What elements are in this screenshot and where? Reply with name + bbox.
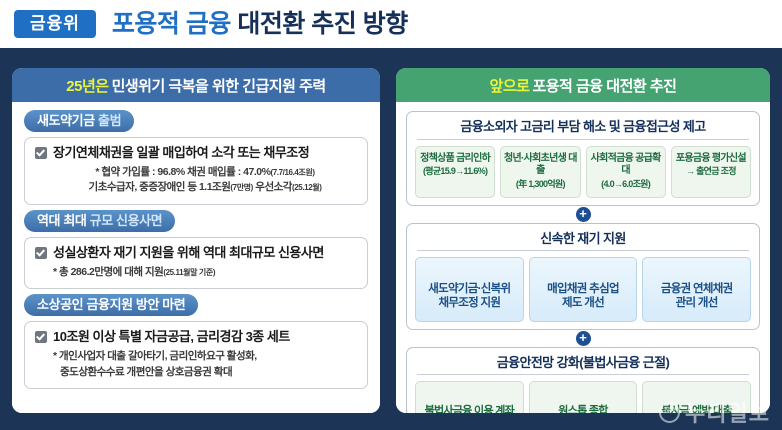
block-tag-primary: 새도약기금 xyxy=(37,113,95,128)
right-box-label: 새도약기금·신복위 채무조정 지원 xyxy=(428,283,510,309)
card-sub-line-2-tail-note: (25.12월) xyxy=(292,183,322,192)
right-box-note: (4.0→6.0조원) xyxy=(589,179,663,190)
right-box-note: (年 1,300억원) xyxy=(503,179,577,190)
card-sub-text: * 개인사업자 대출 갈아타기, 금리인하요구 활성화, 중도상환수수료 개편안… xyxy=(35,349,357,379)
divider xyxy=(417,250,749,251)
card-sub-text: * 총 286.2만명에 대해 지원(25.11월말 기준) xyxy=(35,265,357,280)
card-main-text: 장기연체채권을 일괄 매입하여 소각 또는 채무조정 xyxy=(53,145,309,161)
block-tag-primary: 소상공인 금융지원 방안 마련 xyxy=(37,297,185,312)
right-panel-header: 앞으로 포용적 금융 대전환 추진 xyxy=(396,68,770,102)
block-tag: 새도약기금 출범 xyxy=(24,110,134,132)
card-sub-line-2-note: (7만명) xyxy=(230,183,253,192)
card-main-text: 10조원 이상 특별 자금공급, 금리경감 3종 세트 xyxy=(53,329,290,345)
left-block-small-business: 소상공인 금융지원 방안 마련 10조원 이상 특별 자금공급, 금리경감 3종… xyxy=(24,294,368,389)
right-box-note: (평균15.9→11.6%) xyxy=(418,166,492,177)
card-sub-line-2-text: 기초수급자, 중증장애인 등 1.1조원 xyxy=(89,181,231,193)
right-group-title: 금융안전망 강화(불법사금융 근절) xyxy=(415,353,751,375)
right-box-note: → 출연금 조정 xyxy=(674,166,748,177)
right-box-label: 불사금 예방 대출 실질금리 인하 xyxy=(661,405,732,413)
card-sub-line-1-note: (7.7/16.4조원) xyxy=(270,168,314,177)
board-background: 25년은 민생위기 극복을 위한 긴급지원 주력 새도약기금 출범 장기연체채권… xyxy=(0,48,782,430)
card-sub-line-2-tail: 우선소각 xyxy=(253,181,292,193)
page-title: 포용적 금융 대전환 추진 방향 xyxy=(112,12,408,37)
right-box-prevention-loan: 불사금 예방 대출 실질금리 인하 xyxy=(642,381,751,413)
right-box-onestop-support: 원스톱 종합 전담 지원시스템 xyxy=(529,381,638,413)
right-box-label: 정책상품 금리인하 xyxy=(420,153,490,164)
connector-1: + xyxy=(406,206,760,223)
check-icon xyxy=(35,147,47,159)
right-panel: 앞으로 포용적 금융 대전환 추진 금융소외자 고금리 부담 해소 및 금융접근… xyxy=(396,68,770,413)
right-box-delinquent-management: 금융권 연체채권 관리 개선 xyxy=(642,257,751,321)
divider xyxy=(417,374,749,375)
left-block-credit-amnesty: 역대 최대 규모 신용사면 성실상환자 재기 지원을 위해 역대 최대규모 신용… xyxy=(24,210,368,289)
right-box-label: 불법사금융 이용 계좌 즉시 중단 xyxy=(425,405,515,413)
right-box-label: 사회적금융 공급확대 xyxy=(591,153,661,177)
card-main-row: 장기연체채권을 일괄 매입하여 소각 또는 채무조정 xyxy=(35,145,357,161)
right-box-policy-rate-cut: 정책상품 금리인하 (평균15.9→11.6%) xyxy=(415,146,495,198)
right-box-illegal-account-stop: 불법사금융 이용 계좌 즉시 중단 xyxy=(415,381,524,413)
right-box-label: 금융권 연체채권 관리 개선 xyxy=(661,283,733,309)
organization-badge: 금융위 xyxy=(14,10,96,38)
right-group-title: 금융소외자 고금리 부담 해소 및 금융접근성 제고 xyxy=(415,117,751,139)
right-group-title: 신속한 재기 지원 xyxy=(415,229,751,251)
right-group-safety-net: 금융안전망 강화(불법사금융 근절) 불법사금융 이용 계좌 즉시 중단 원스톱… xyxy=(406,347,760,413)
right-box-inclusive-finance-eval: 포용금융 평가신설 → 출연금 조정 xyxy=(671,146,751,198)
card-sub-line-1: * 협약 가입률 : 96.8% 채권 매입률 : 47.0%(7.7/16.4… xyxy=(53,165,357,180)
right-group-row: 새도약기금·신복위 채무조정 지원 매입채권 추심업 제도 개선 금융권 연체채… xyxy=(415,257,751,321)
block-tag-primary: 역대 최대 xyxy=(37,213,86,228)
right-box-collection-reform: 매입채권 추심업 제도 개선 xyxy=(529,257,638,321)
infographic-canvas: 금융위 포용적 금융 대전환 추진 방향 25년은 민생위기 극복을 위한 긴급… xyxy=(0,0,782,430)
right-panel-header-text: 포용적 금융 대전환 추진 xyxy=(532,75,676,96)
right-box-label: 원스톱 종합 전담 지원시스템 xyxy=(549,405,617,413)
card-main-row: 성실상환자 재기 지원을 위해 역대 최대규모 신용사면 xyxy=(35,245,357,261)
right-panel-body: 금융소외자 고금리 부담 해소 및 금융접근성 제고 정책상품 금리인하 (평균… xyxy=(396,102,770,413)
title-bar: 금융위 포용적 금융 대전환 추진 방향 xyxy=(0,0,782,48)
right-box-label: 매입채권 추심업 제도 개선 xyxy=(547,283,619,309)
card-main-row: 10조원 이상 특별 자금공급, 금리경감 3종 세트 xyxy=(35,329,357,345)
block-card: 성실상환자 재기 지원을 위해 역대 최대규모 신용사면 * 총 286.2만명… xyxy=(24,237,368,289)
card-sub-line-2-text: 중도상환수수료 개편안을 상호금융권 확대 xyxy=(60,366,232,378)
card-sub-line-1-note: (25.11월말 기준) xyxy=(163,268,215,277)
connector-2: + xyxy=(406,330,760,347)
plus-icon: + xyxy=(576,331,591,346)
check-icon xyxy=(35,247,47,259)
right-box-label: 포용금융 평가신설 xyxy=(676,153,746,164)
right-panel-header-highlight: 앞으로 xyxy=(490,75,530,96)
right-box-label: 청년·사회초년생 대출 xyxy=(504,153,577,177)
right-group-access: 금융소외자 고금리 부담 해소 및 금융접근성 제고 정책상품 금리인하 (평균… xyxy=(406,111,760,206)
card-sub-line-1: * 개인사업자 대출 갈아타기, 금리인하요구 활성화, xyxy=(53,349,357,364)
block-tag: 역대 최대 규모 신용사면 xyxy=(24,210,175,232)
block-card: 10조원 이상 특별 자금공급, 금리경감 3종 세트 * 개인사업자 대출 갈… xyxy=(24,321,368,389)
block-tag: 소상공인 금융지원 방안 마련 xyxy=(24,294,198,316)
right-group-row: 정책상품 금리인하 (평균15.9→11.6%) 청년·사회초년생 대출 (年 … xyxy=(415,146,751,198)
plus-icon: + xyxy=(576,207,591,222)
left-panel: 25년은 민생위기 극복을 위한 긴급지원 주력 새도약기금 출범 장기연체채권… xyxy=(12,68,380,413)
card-sub-line-2: 기초수급자, 중증장애인 등 1.1조원(7만명) 우선소각(25.12월) xyxy=(53,180,357,195)
block-card: 장기연체채권을 일괄 매입하여 소각 또는 채무조정 * 협약 가입률 : 96… xyxy=(24,137,368,205)
right-box-social-finance-supply: 사회적금융 공급확대 (4.0→6.0조원) xyxy=(586,146,666,198)
left-panel-header: 25년은 민생위기 극복을 위한 긴급지원 주력 xyxy=(12,68,380,102)
block-tag-secondary: 규모 신용사면 xyxy=(90,213,163,228)
page-title-rest: 대전환 추진 방향 xyxy=(237,10,407,38)
card-sub-line-1-text: * 협약 가입률 : 96.8% 채권 매입률 : 47.0% xyxy=(95,166,270,178)
card-main-text: 성실상환자 재기 지원을 위해 역대 최대규모 신용사면 xyxy=(53,245,324,261)
card-sub-text: * 협약 가입률 : 96.8% 채권 매입률 : 47.0%(7.7/16.4… xyxy=(35,165,357,195)
right-group-recovery: 신속한 재기 지원 새도약기금·신복위 채무조정 지원 매입채권 추심업 제도 … xyxy=(406,223,760,330)
right-box-youth-loan: 청년·사회초년생 대출 (年 1,300억원) xyxy=(500,146,580,198)
left-panel-body: 새도약기금 출범 장기연체채권을 일괄 매입하여 소각 또는 채무조정 * 협약… xyxy=(12,102,380,413)
card-sub-line-1-text: * 총 286.2만명에 대해 지원 xyxy=(53,266,163,278)
card-sub-line-2: 중도상환수수료 개편안을 상호금융권 확대 xyxy=(53,365,357,380)
right-box-debt-adjustment: 새도약기금·신복위 채무조정 지원 xyxy=(415,257,524,321)
left-block-new-leap-fund: 새도약기금 출범 장기연체채권을 일괄 매입하여 소각 또는 채무조정 * 협약… xyxy=(24,110,368,205)
left-panel-header-year: 25년은 xyxy=(66,75,108,96)
check-icon xyxy=(35,331,47,343)
left-panel-header-text: 민생위기 극복을 위한 긴급지원 주력 xyxy=(112,75,326,96)
right-group-row: 불법사금융 이용 계좌 즉시 중단 원스톱 종합 전담 지원시스템 불사금 예방… xyxy=(415,381,751,413)
divider xyxy=(417,139,749,140)
block-tag-secondary: 출범 xyxy=(98,113,121,128)
page-title-highlight: 포용적 금융 xyxy=(112,10,231,38)
